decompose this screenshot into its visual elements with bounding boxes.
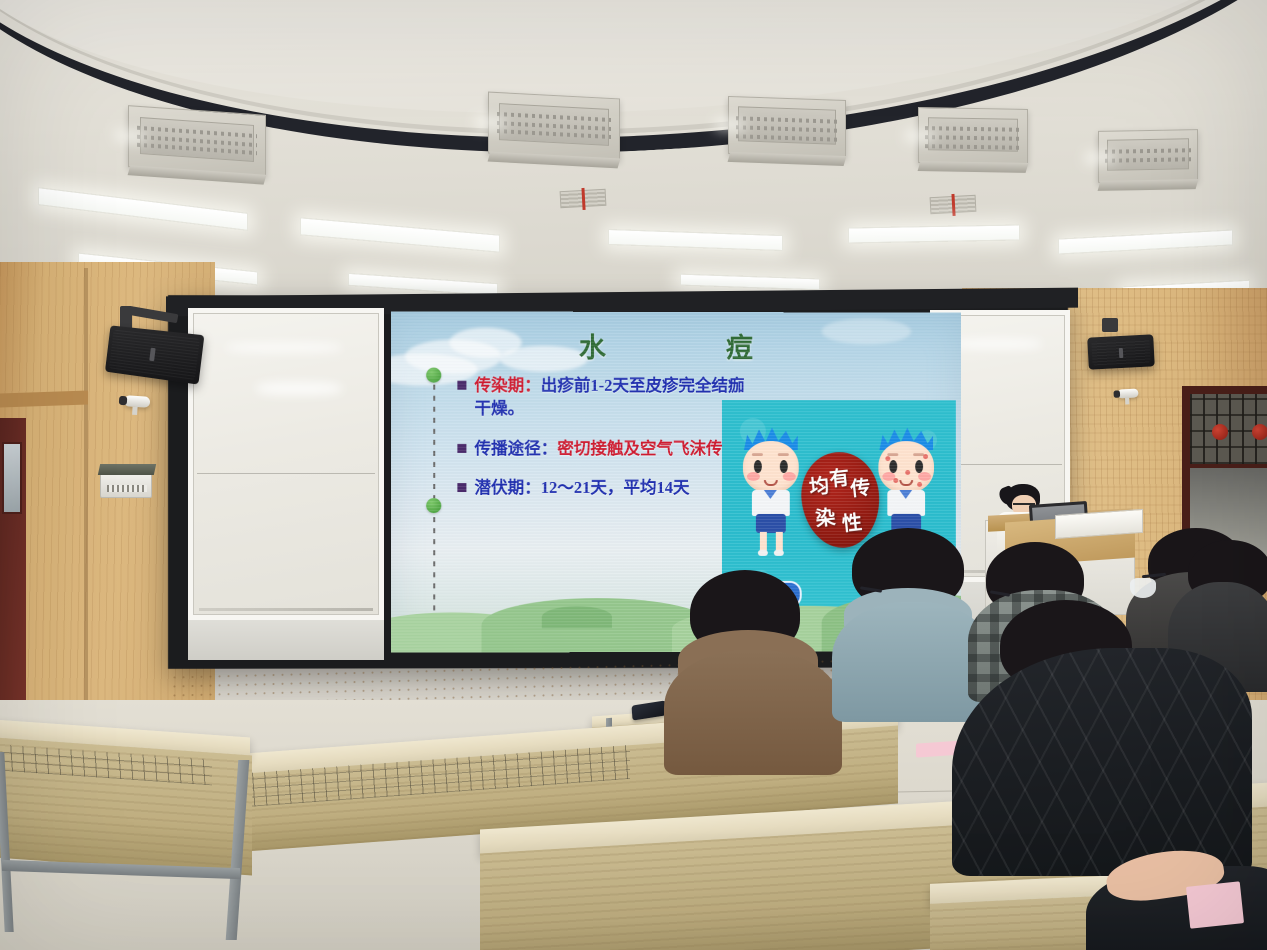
slide-bullet-list: 传染期：出疹前1-2天至皮疹完全结痂干燥。 传播途径：密切接触及空气飞沫传播 潜… [457,374,748,516]
bullet-2-body: 密切接触及空气飞沫传播 [557,439,739,458]
speaker-right [1087,334,1155,369]
timeline-dot-1 [426,368,441,383]
bullet-2-label: 传播途径： [474,439,557,458]
slide-bullet-infectious-period: 传染期：出疹前1-2天至皮疹完全结痂干燥。 [457,374,748,421]
bullet-marker-icon [457,483,466,492]
ac-cassette-unit-2 [488,92,620,161]
sprinkler-vent-2 [930,195,977,214]
ac-cassette-unit-4 [918,107,1028,165]
bullet-marker-icon [457,381,466,390]
badge-char-3: 传 [849,471,872,502]
security-camera-left [124,395,151,408]
ac-cassette-unit-3 [728,96,846,158]
whiteboard-left-base [188,620,384,660]
door-transom-lattice [1190,394,1267,464]
pink-item-in-hand [1186,881,1244,928]
electrical-panel-left[interactable] [100,472,152,498]
slide-bullet-transmission-route: 传播途径：密切接触及空气飞沫传播 [457,437,748,461]
bullet-1-label: 传染期： [474,376,540,395]
door-left[interactable] [0,418,26,748]
bullet-3-label: 潜伏期： [474,478,540,497]
slide-title: 水 痘 [391,325,961,365]
ac-cassette-unit-1 [128,105,266,177]
lecture-hall-scene: 水 痘 传染期：出疹前1-2天至皮疹完全结痂干燥。 传播途径：密切接触及空气飞沫… [0,0,1267,950]
security-camera-right [1117,389,1138,399]
contagious-badge: 均 有 传 染 性 [797,448,884,551]
badge-char-2: 有 [828,461,851,492]
bullet-3-body: 12～21天，平均14天 [541,478,690,497]
timeline-dot-2 [426,498,441,513]
slide-bullet-incubation-period: 潜伏期：12～21天，平均14天 [457,476,748,499]
student-5-face-mask [1130,578,1156,598]
badge-char-4: 染 [814,501,837,532]
whiteboard-left [188,308,384,620]
speaker-bracket-right [1102,318,1118,332]
door-left-window [2,442,22,514]
student-1-body [664,650,842,775]
sprinkler-vent-1 [560,189,607,208]
led-panel-7 [848,224,1020,243]
bullet-marker-icon [457,444,466,453]
ac-cassette-unit-5 [1098,129,1198,183]
wall-corner-left [84,268,88,768]
badge-char-5: 性 [840,506,863,537]
badge-char-1: 均 [808,469,831,500]
